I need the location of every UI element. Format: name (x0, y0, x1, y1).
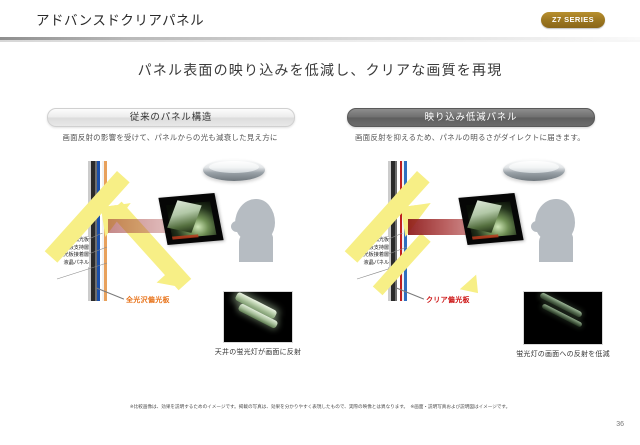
left-diagram: 偏光板 偏光板支持層 偏光板接着層 液晶パネル 全光沢偏光板 (25, 153, 315, 403)
left-panel-section: 従来のパネル構造 画面反射の影響を受けて、パネルからの光も減衰した見え方に (25, 108, 315, 398)
left-photo-caption: 天井の蛍光灯が画面に反射 (173, 347, 343, 357)
lamp-diffuser (509, 161, 559, 173)
viewer-head-silhouette (231, 199, 277, 261)
right-panel-section: 映り込み低減パネル 画面反射を抑えるため、パネルの明るさがダイレクトに届きます。 (325, 108, 615, 398)
page-title: アドバンスドクリアパネル (36, 9, 204, 29)
ceiling-light-icon (503, 159, 565, 181)
viewer-head-silhouette (531, 199, 577, 261)
series-badge: Z7 SERIES (541, 12, 605, 28)
right-section-heading: 映り込み低減パネル (347, 108, 595, 127)
left-reflection-photo (223, 291, 293, 343)
right-accent-label: クリア偏光板 (426, 295, 470, 305)
footnote-disclaimer: ※比較画像は、効果を説明するためのイメージです。掲載の写真は、効果を分かりやすく… (0, 404, 640, 410)
head-neck (539, 232, 573, 262)
slide-root: アドバンスドクリアパネル Z7 SERIES パネル表面の映り込みを低減し、クリ… (0, 0, 640, 445)
head-neck (239, 232, 273, 262)
right-section-description: 画面反射を抑えるため、パネルの明るさがダイレクトに届きます。 (325, 132, 615, 143)
left-section-description: 画面反射の影響を受けて、パネルからの光も減衰した見え方に (25, 132, 315, 143)
right-photo-caption: 蛍光灯の画面への反射を低減 (473, 349, 640, 359)
header-divider-shadow (0, 40, 640, 42)
head-nose (531, 221, 543, 232)
left-section-heading: 従来のパネル構造 (47, 108, 295, 127)
tv-screen-graphic (158, 193, 223, 245)
tv-screen-graphic (458, 193, 523, 245)
slide-header: アドバンスドクリアパネル Z7 SERIES (0, 0, 640, 38)
right-reflection-photo (523, 291, 603, 345)
ceiling-light-icon (203, 159, 265, 181)
right-diagram: 偏光板 偏光板支持層 偏光板接着層 液晶パネル クリア偏光板 (325, 153, 615, 403)
head-nose (231, 221, 243, 232)
slide-subtitle: パネル表面の映り込みを低減し、クリアな画質を再現 (0, 60, 640, 80)
page-number: 36 (616, 421, 624, 428)
left-accent-label: 全光沢偏光板 (126, 295, 170, 305)
lamp-diffuser (209, 161, 259, 173)
